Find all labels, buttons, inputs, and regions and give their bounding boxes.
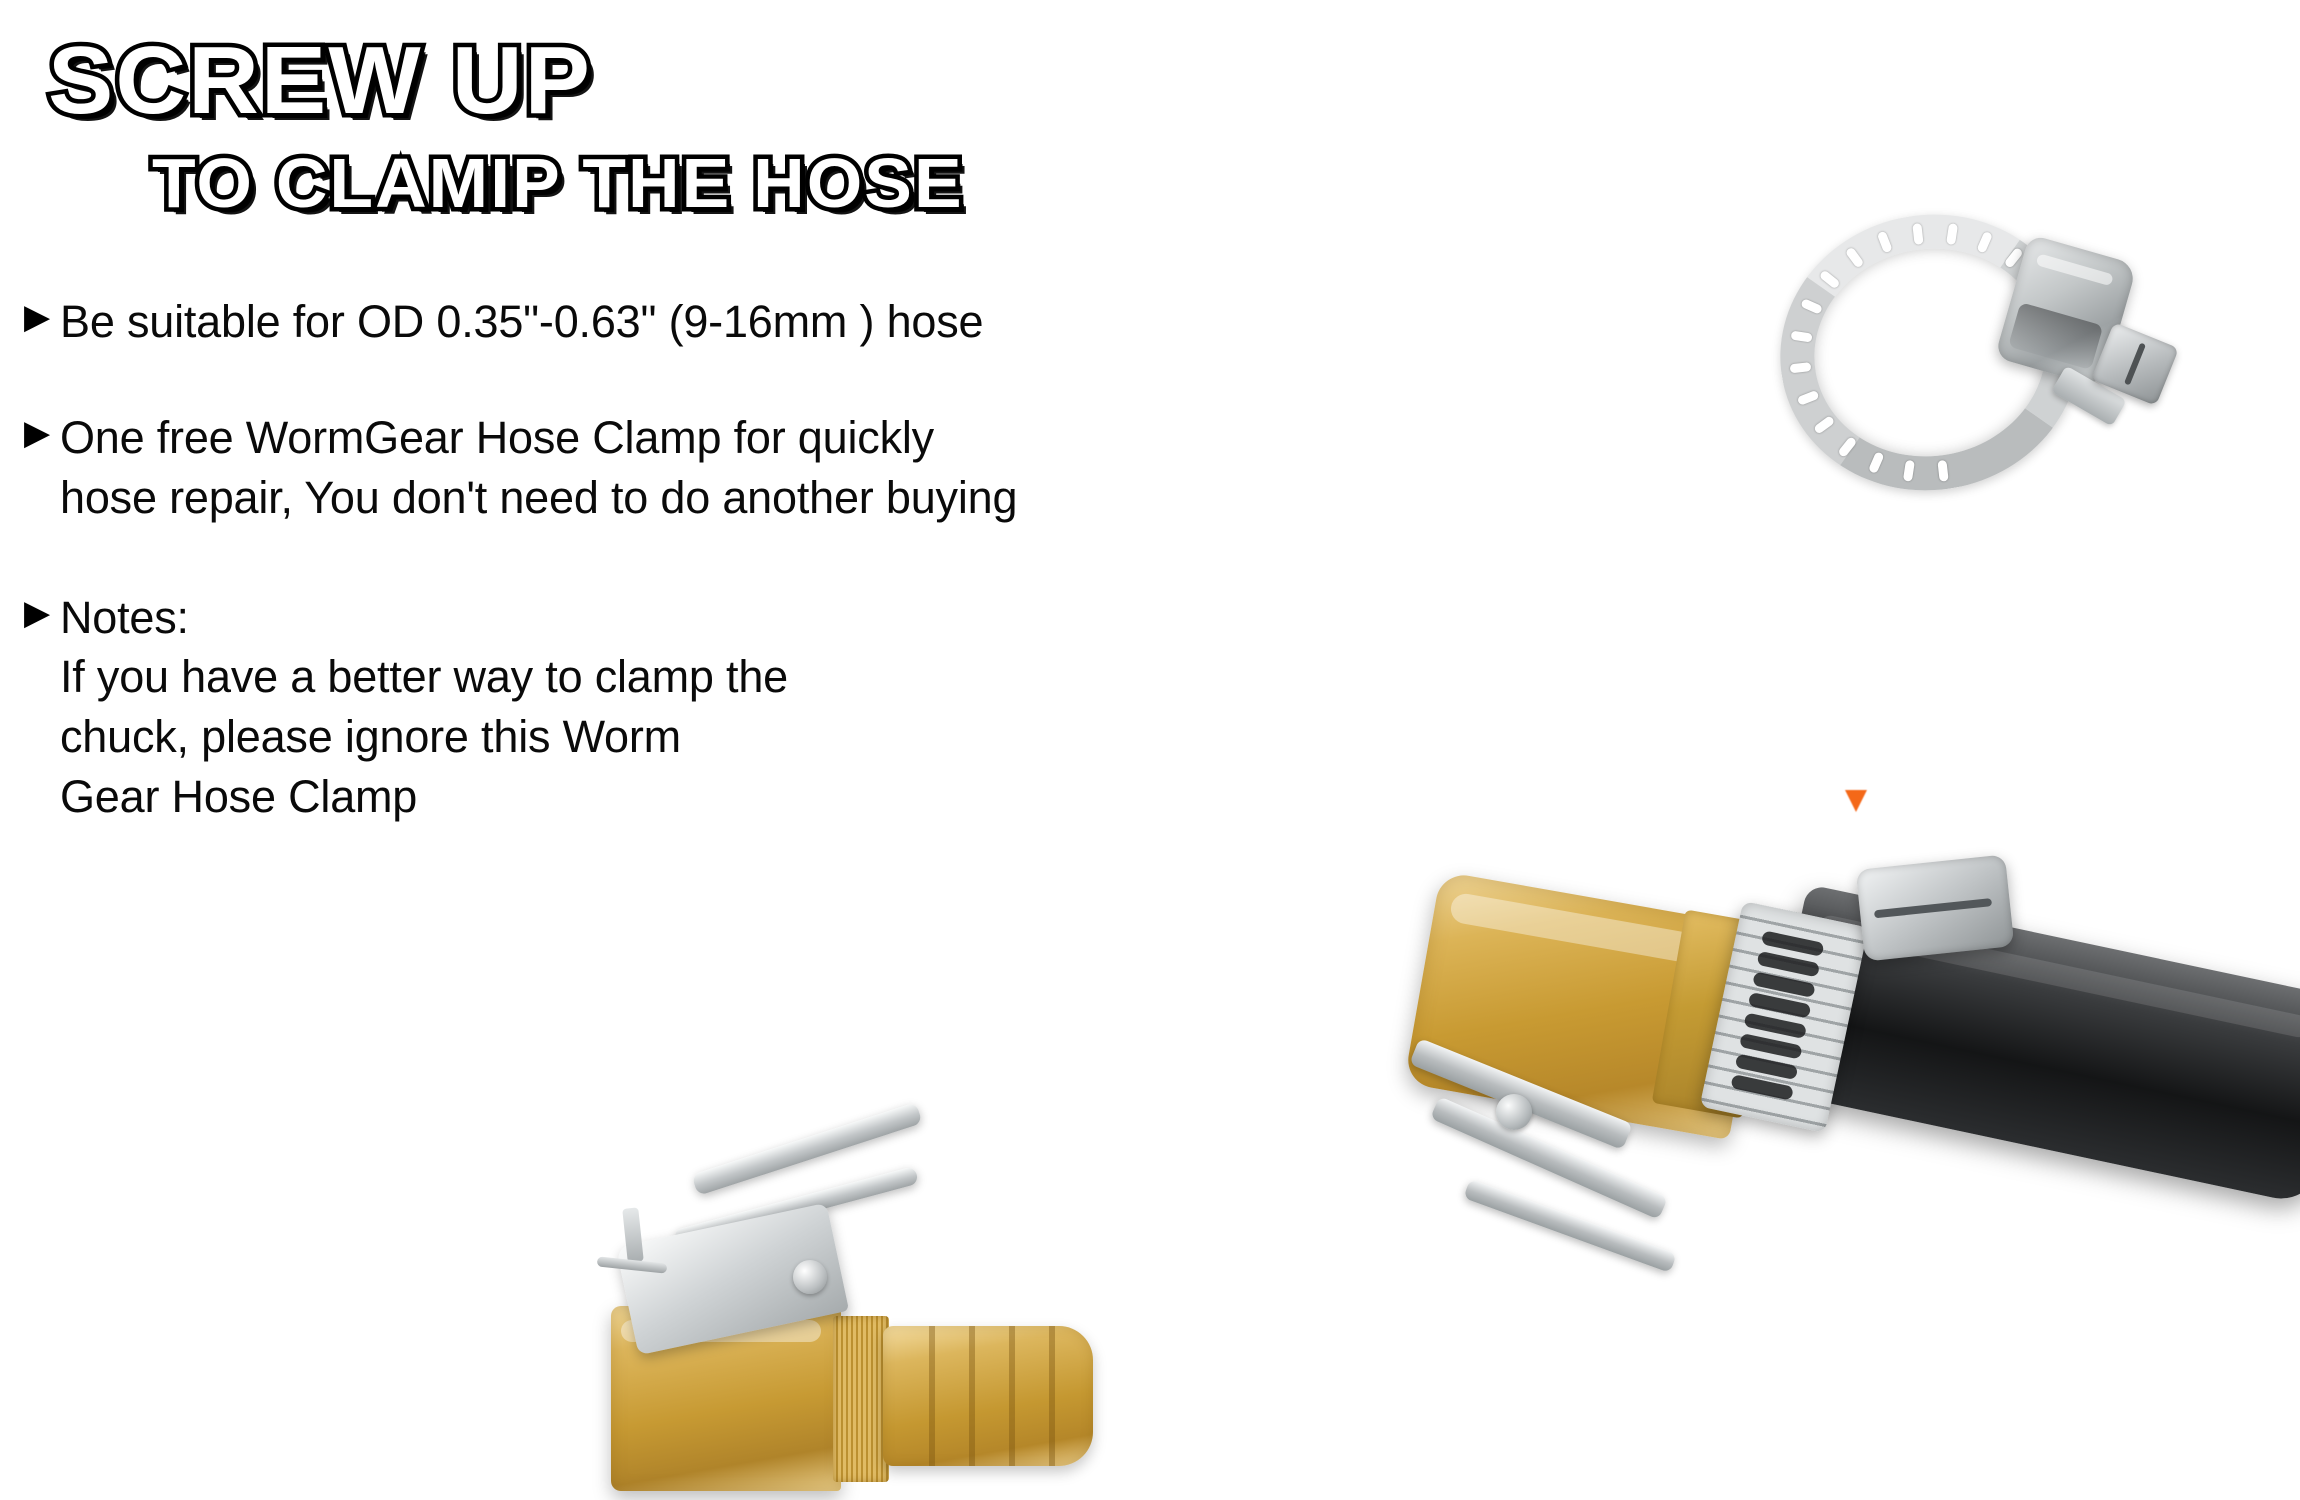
feature-bullet-list: ▶ Be suitable for OD 0.35"-0.63" (9-16mm… <box>0 270 1300 827</box>
page-title-line-1: SCREW UP <box>48 26 592 136</box>
clamp-band-slot <box>1730 1074 1794 1101</box>
clamp-band-slot <box>1818 270 1840 290</box>
chuck-lever-assembly <box>597 1132 917 1332</box>
worm-gear-screw-head <box>1856 854 2015 961</box>
clamp-band-slot <box>1876 231 1892 254</box>
clamp-band-slot <box>1867 451 1884 474</box>
chuck-barbed-hose-stem <box>883 1326 1093 1466</box>
clamp-band-slot <box>1976 231 1993 254</box>
clamp-band-slot <box>1837 436 1857 458</box>
page-title-line-2: TO CLAMIP THE HOSE <box>152 143 964 223</box>
barb-rib <box>969 1326 975 1466</box>
bullet-item-free-clamp: ▶ One free WormGear Hose Clamp for quick… <box>0 408 1300 528</box>
bullet-item-label: One free WormGear Hose Clamp for quickly… <box>60 408 1300 528</box>
bullet-item-label: Notes: If you have a better way to clamp… <box>60 588 1300 827</box>
triangle-right-bullet-icon: ▶ <box>24 300 60 334</box>
bullet-item-hose-size: ▶ Be suitable for OD 0.35"-0.63" (9-16mm… <box>0 292 1300 352</box>
triangle-right-bullet-icon: ▶ <box>24 596 60 630</box>
clamp-band-slot <box>1800 298 1823 315</box>
triangle-right-bullet-icon: ▶ <box>24 416 60 450</box>
lever-rivet <box>793 1260 827 1294</box>
clamp-band-slot <box>1789 362 1811 373</box>
worm-gear-clamp-photo <box>1770 205 2290 515</box>
chuck-knurled-nut <box>833 1316 889 1482</box>
clamp-band-slot <box>1912 223 1923 245</box>
clamp-band-slot <box>1796 390 1819 406</box>
clamp-band-slot <box>1946 223 1958 245</box>
bullet-item-notes: ▶ Notes: If you have a better way to cla… <box>0 588 1300 827</box>
barb-rib <box>1009 1326 1015 1466</box>
clamp-band-slot <box>1937 460 1948 482</box>
chuck-steel-clip <box>1400 1070 1700 1300</box>
clamp-band-slot <box>1902 460 1914 482</box>
barb-rib <box>929 1326 935 1466</box>
bullet-item-label: Be suitable for OD 0.35"-0.63" (9-16mm )… <box>60 292 1300 352</box>
clamp-band-slot <box>1790 331 1812 343</box>
orange-marker-icon <box>1845 790 1867 812</box>
chuck-on-hose-photo <box>1390 820 2300 1380</box>
clamp-band-slot <box>1813 415 1835 435</box>
barb-rib <box>1049 1326 1055 1466</box>
clip-pivot-pin <box>1496 1094 1532 1130</box>
clamp-band-slot <box>1844 247 1864 269</box>
brass-tire-chuck-photo <box>575 1120 1195 1500</box>
infographic-page: SCREW UP TO CLAMIP THE HOSE ▶ Be suitabl… <box>0 0 2300 1500</box>
